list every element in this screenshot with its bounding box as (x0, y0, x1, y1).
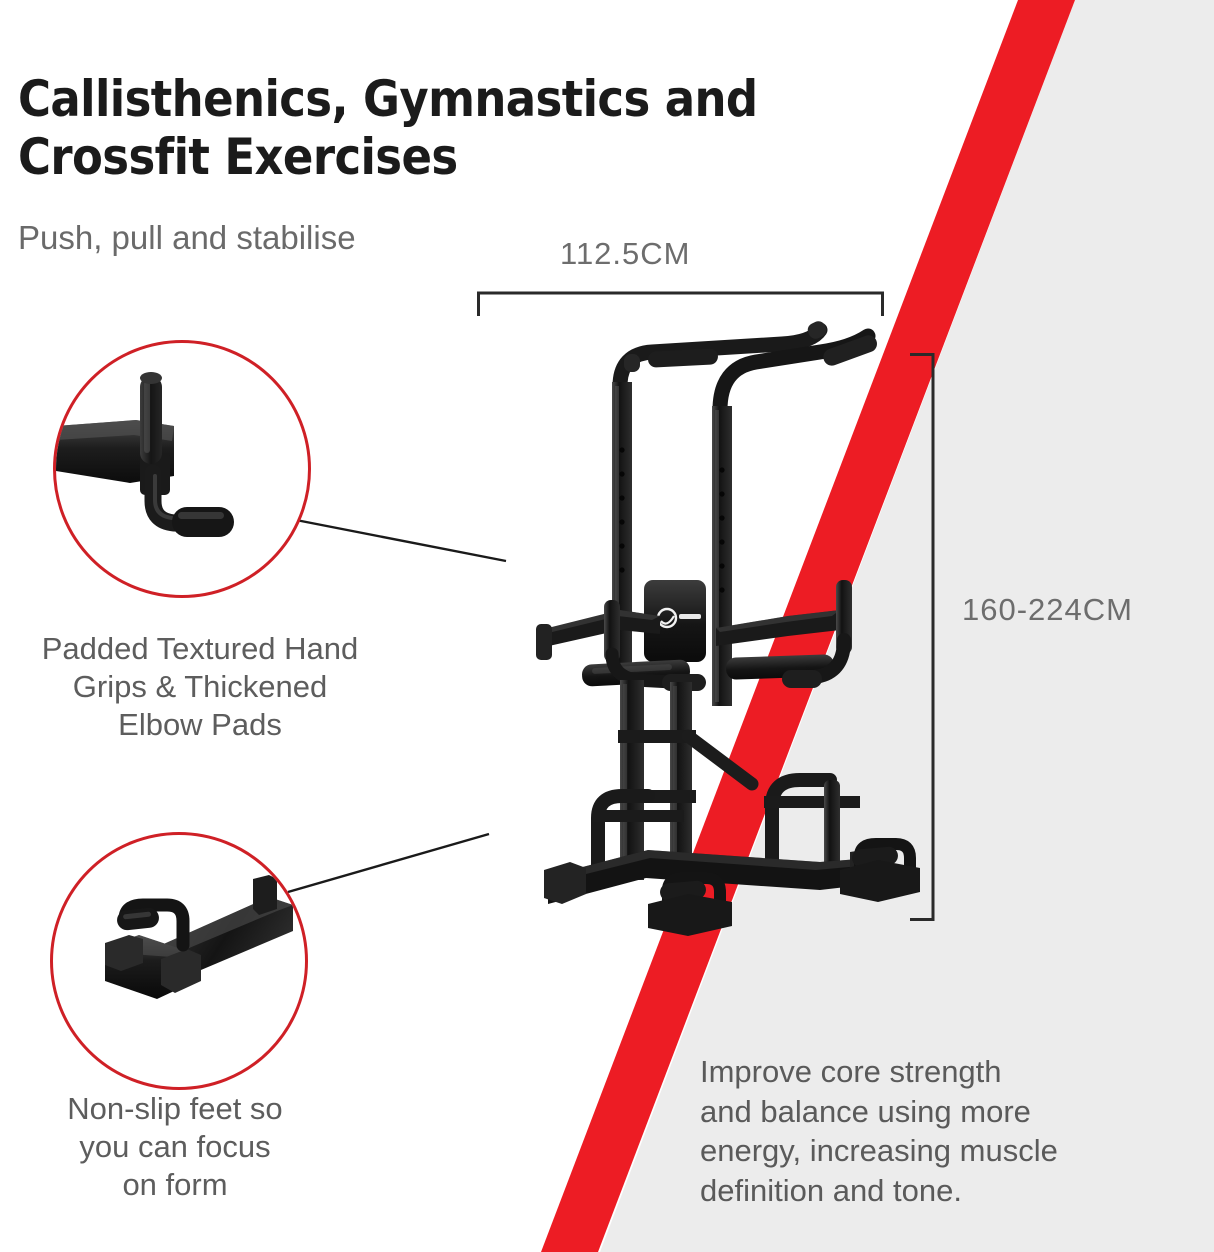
feature-caption-padded-grips: Padded Textured Hand Grips & Thickened E… (0, 630, 400, 743)
benefit-blurb: Improve core strength and balance using … (700, 1052, 1190, 1211)
inset-circle-non-slip-feet (50, 832, 308, 1090)
inset-circle-padded-grips (53, 340, 311, 598)
feature-caption-non-slip-feet: Non-slip feet so you can focus on form (10, 1090, 340, 1203)
width-dimension-label: 112.5CM (560, 236, 900, 272)
height-dimension-label: 160-224CM (962, 592, 1212, 628)
page-title: Callisthenics, Gymnastics and Crossfit E… (18, 70, 898, 186)
infographic-canvas: Callisthenics, Gymnastics and Crossfit E… (0, 0, 1214, 1252)
power-tower-product-image (520, 310, 940, 1000)
handle-grip-closeup-icon (56, 343, 302, 589)
non-slip-foot-closeup-icon (53, 835, 299, 1081)
